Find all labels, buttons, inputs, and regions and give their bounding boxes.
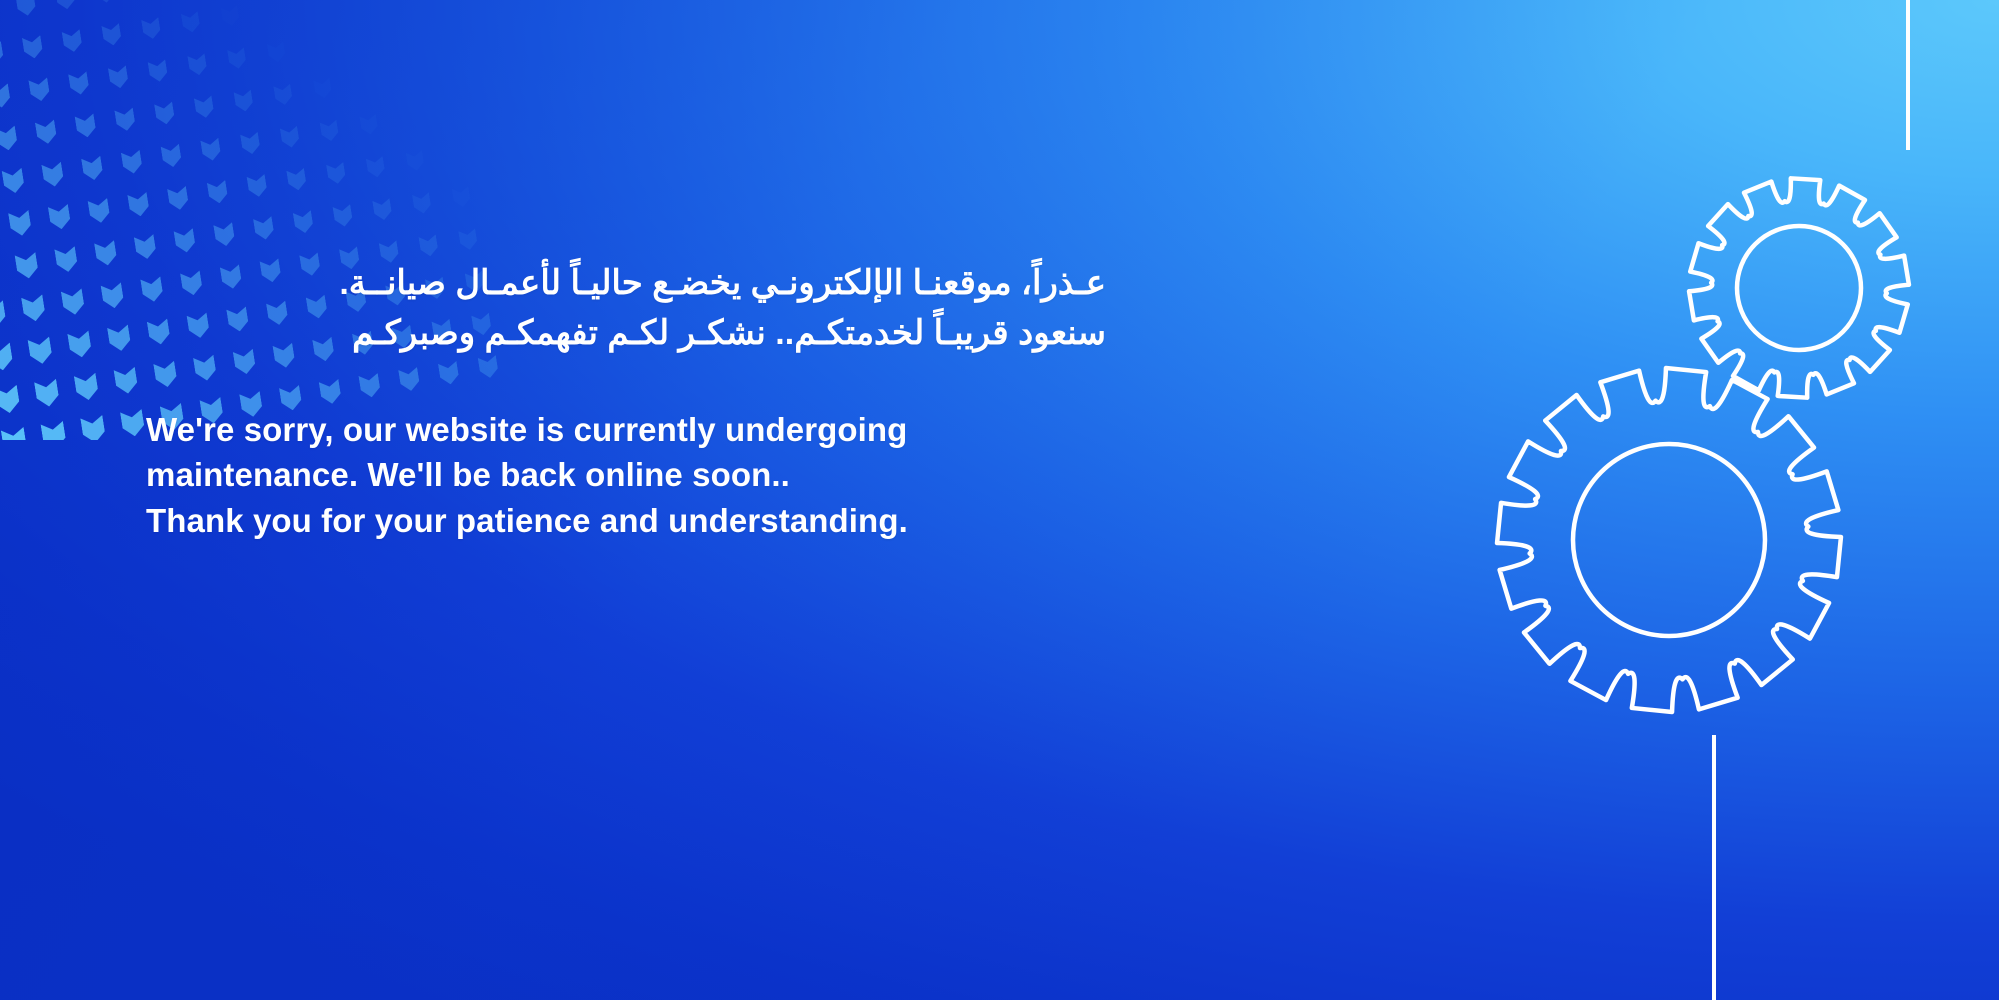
maintenance-page: عـذراً، موقعنـا الإلكترونـي يخضـع حاليـا…	[0, 0, 1999, 1000]
english-line-1: We're sorry, our website is currently un…	[146, 407, 1106, 453]
message-block: عـذراً، موقعنـا الإلكترونـي يخضـع حاليـا…	[146, 258, 1106, 543]
english-message: We're sorry, our website is currently un…	[146, 407, 1106, 544]
english-line-2: maintenance. We'll be back online soon..	[146, 452, 1106, 498]
arabic-line-1: عـذراً، موقعنـا الإلكترونـي يخضـع حاليـا…	[366, 258, 1106, 308]
english-line-3: Thank you for your patience and understa…	[146, 498, 1106, 544]
arabic-message: عـذراً، موقعنـا الإلكترونـي يخضـع حاليـا…	[366, 258, 1106, 359]
arabic-line-2: سنعود قريبـاً لخدمتكـم.. نشكـر لكـم تفهم…	[366, 308, 1106, 358]
